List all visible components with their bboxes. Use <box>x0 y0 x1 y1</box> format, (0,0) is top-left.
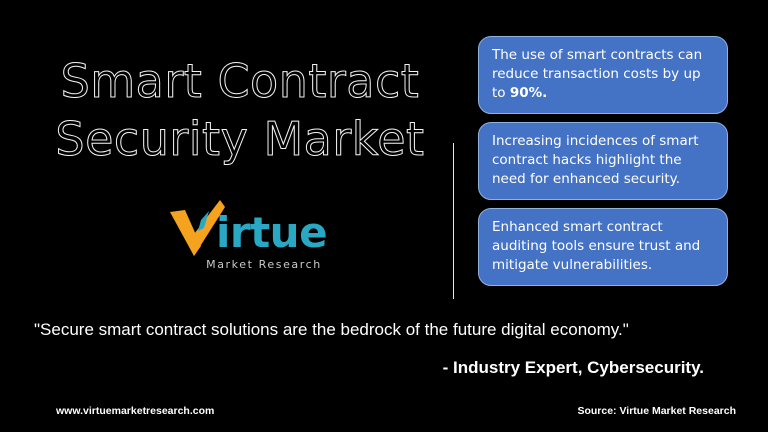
callout-box-3: Enhanced smart contract auditing tools e… <box>478 208 728 286</box>
callout-box-1: The use of smart contracts can reduce tr… <box>478 36 728 114</box>
infographic-slide: Smart Contract Security Market irtue Mar… <box>0 0 768 432</box>
callout-3-text: Enhanced smart contract auditing tools e… <box>492 219 700 273</box>
title-line-2: Security Market <box>30 110 450 168</box>
brand-logo: irtue Market Research <box>168 198 338 284</box>
callout-1-emphasis: 90%. <box>510 85 547 101</box>
page-title: Smart Contract Security Market <box>30 52 450 168</box>
logo-wordmark: irtue <box>216 210 327 256</box>
quote-text: "Secure smart contract solutions are the… <box>34 320 738 340</box>
footer-source: Source: Virtue Market Research <box>577 405 736 417</box>
logo-tagline: Market Research <box>190 258 338 271</box>
callout-box-2: Increasing incidences of smart contract … <box>478 122 728 200</box>
title-line-1: Smart Contract <box>30 52 450 110</box>
quote-attribution: - Industry Expert, Cybersecurity. <box>34 358 704 378</box>
logo-mark: irtue <box>168 198 338 260</box>
callout-2-text: Increasing incidences of smart contract … <box>492 133 699 187</box>
vertical-divider <box>453 143 454 299</box>
callout-list: The use of smart contracts can reduce tr… <box>478 36 728 294</box>
footer-website[interactable]: www.virtuemarketresearch.com <box>56 405 214 417</box>
